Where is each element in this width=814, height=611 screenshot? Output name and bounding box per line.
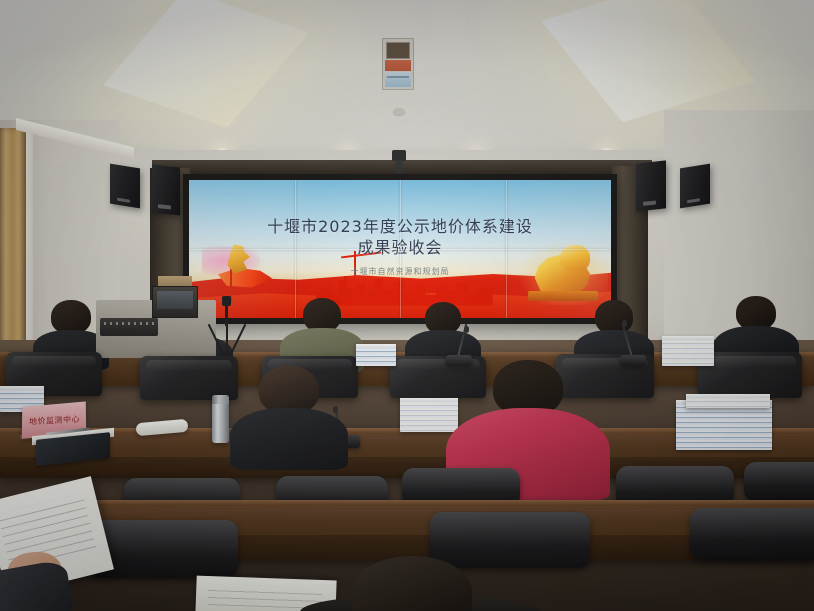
document-stack-6: [686, 394, 770, 408]
presentation-title: 十堰市2023年度公示地价体系建设 成果验收会: [189, 216, 611, 258]
video-wall-bezel: 十堰市2023年度公示地价体系建设 成果验收会 十堰市自然资源和规划局: [189, 180, 611, 318]
presentation-title-line2: 成果验收会: [189, 237, 611, 258]
hvac-blue-label: [385, 72, 411, 87]
wall-speaker-left-inner: [152, 165, 180, 216]
video-wall: 十堰市2023年度公示地价体系建设 成果验收会 十堰市自然资源和规划局: [183, 174, 617, 324]
hvac-display: [386, 42, 410, 59]
audio-mixer[interactable]: [100, 318, 158, 336]
person-back-center: [282, 298, 362, 364]
document-stack-2: [662, 336, 714, 366]
camera-tripod: [206, 296, 246, 362]
wall-speaker-right-inner: [636, 160, 666, 211]
hvac-red-label: [385, 60, 411, 71]
document-stack-1: [356, 344, 396, 366]
microphone-1: [620, 318, 646, 366]
wall-speaker-left-outer: [110, 164, 140, 209]
chair-mid-5[interactable]: [744, 462, 814, 502]
wall-speaker-right-outer: [680, 164, 710, 209]
chair-front-2[interactable]: [430, 512, 590, 568]
smoke-detector: [393, 108, 405, 115]
person-mid-left: [234, 366, 344, 462]
presentation-subtitle: 十堰市自然资源和规划局: [189, 266, 611, 277]
thermos-bottle: [212, 395, 229, 443]
conference-room-photo: 十堰市2023年度公示地价体系建设 成果验收会 十堰市自然资源和规划局: [0, 0, 814, 611]
ceiling-hvac-panel: [382, 38, 414, 90]
chair-front-3[interactable]: [690, 508, 814, 560]
presentation-title-line1: 十堰市2023年度公示地价体系建设: [189, 216, 611, 237]
document-stack-4: [400, 398, 458, 432]
presentation-screen: 十堰市2023年度公示地价体系建设 成果验收会 十堰市自然资源和规划局: [189, 180, 611, 318]
chair-back-2[interactable]: [140, 356, 238, 400]
name-placard-text: 地价监测中心: [28, 413, 79, 427]
av-monitor: [152, 286, 198, 318]
ceiling-projector: [392, 150, 406, 161]
